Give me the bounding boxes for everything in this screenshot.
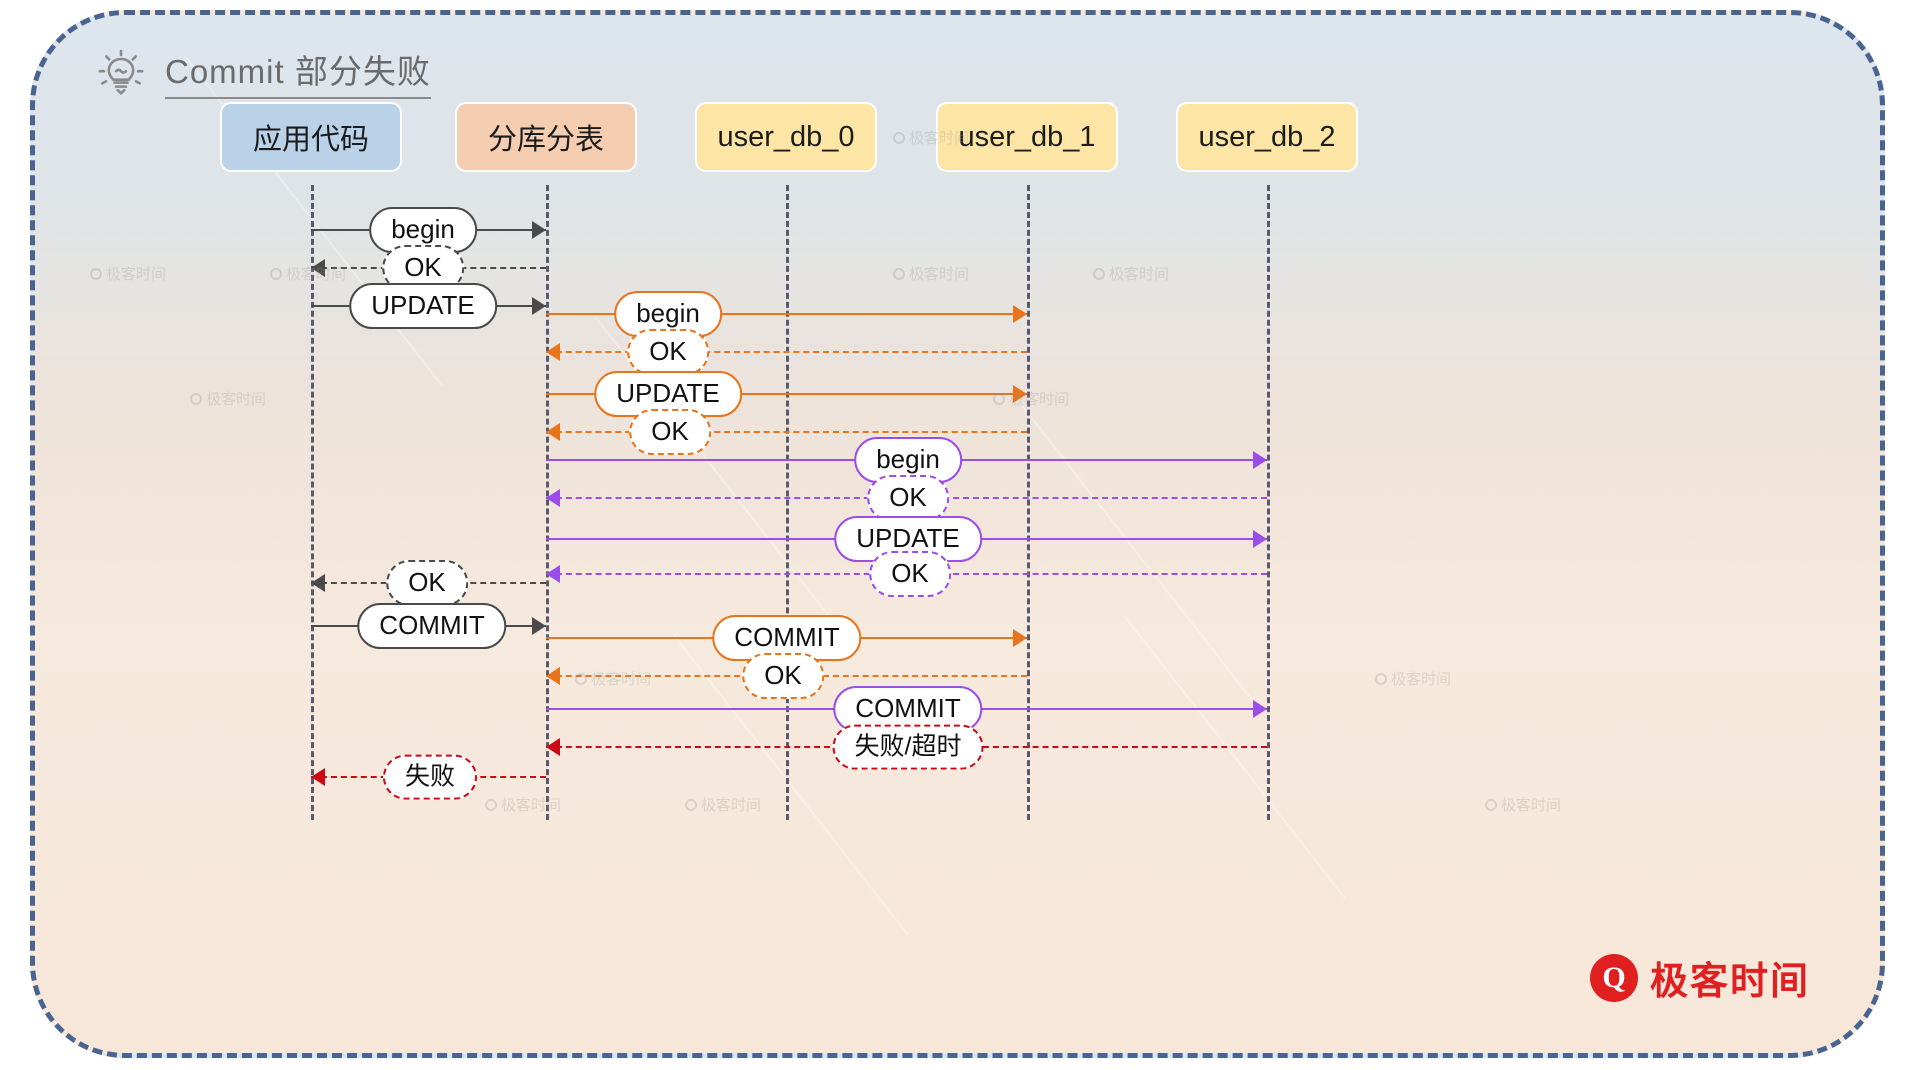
message-4-OK: OK xyxy=(35,351,1880,353)
watermark: 极客时间 xyxy=(485,794,561,815)
message-label: OK xyxy=(742,653,824,699)
watermark-dot-icon xyxy=(270,268,282,280)
message-17-: 失败 xyxy=(35,776,1880,778)
watermark: 极客时间 xyxy=(685,794,761,815)
message-13-COMMIT: COMMIT xyxy=(35,637,1880,639)
watermark-text: 极客时间 xyxy=(206,388,266,409)
message-9-UPDATE: UPDATE xyxy=(35,538,1880,540)
watermark-text: 极客时间 xyxy=(501,794,561,815)
participant-label: 应用代码 xyxy=(253,116,369,158)
message-arrowhead xyxy=(546,489,560,507)
message-arrowhead xyxy=(532,221,546,239)
message-arrowhead xyxy=(311,768,325,786)
decor-streak xyxy=(1123,615,1346,900)
message-label: 失败 xyxy=(383,755,477,800)
message-arrowhead xyxy=(546,738,560,756)
message-arrowhead xyxy=(546,565,560,583)
lifeline-app xyxy=(311,185,314,820)
message-label: 失败/超时 xyxy=(833,725,984,770)
watermark: 极客时间 xyxy=(1375,668,1451,689)
watermark-dot-icon xyxy=(893,268,905,280)
message-line xyxy=(546,351,1027,353)
watermark-text: 极客时间 xyxy=(1391,668,1451,689)
logo-mark-icon: Q xyxy=(1590,954,1638,1002)
message-label: OK xyxy=(629,409,711,455)
participant-label: 分库分表 xyxy=(488,116,604,158)
message-11-OK: OK xyxy=(35,582,1880,584)
participant-app[interactable]: 应用代码 xyxy=(220,102,402,172)
message-2-UPDATE: UPDATE xyxy=(35,305,1880,307)
message-label: OK xyxy=(867,475,949,521)
message-label: UPDATE xyxy=(349,283,497,329)
watermark-dot-icon xyxy=(90,268,102,280)
logo-text: 极客时间 xyxy=(1650,950,1810,1005)
message-arrowhead xyxy=(532,617,546,635)
message-label: OK xyxy=(869,551,951,597)
page-title: Commit 部分失败 xyxy=(165,45,431,99)
message-1-OK: OK xyxy=(35,267,1880,269)
message-arrowhead xyxy=(311,259,325,277)
message-arrowhead xyxy=(546,667,560,685)
logo-mark-letter: Q xyxy=(1602,963,1625,993)
message-arrowhead xyxy=(546,343,560,361)
watermark: 极客时间 xyxy=(190,388,266,409)
watermark-dot-icon xyxy=(1093,268,1105,280)
message-8-OK: OK xyxy=(35,497,1880,499)
message-arrowhead xyxy=(1013,629,1027,647)
message-0-begin: begin xyxy=(35,229,1880,231)
watermark: 极客时间 xyxy=(993,388,1069,409)
geekbang-logo: Q 极客时间 xyxy=(1590,950,1810,1005)
diagram-canvas: Commit 部分失败 应用代码分库分表user_db_0user_db_1us… xyxy=(0,0,1920,1070)
message-line xyxy=(546,431,1027,433)
lightbulb-icon xyxy=(95,46,147,98)
watermark-dot-icon xyxy=(485,799,497,811)
participant-db2[interactable]: user_db_2 xyxy=(1176,102,1358,172)
watermark-dot-icon xyxy=(685,799,697,811)
message-arrowhead xyxy=(311,574,325,592)
message-12-COMMIT: COMMIT xyxy=(35,625,1880,627)
message-7-begin: begin xyxy=(35,459,1880,461)
message-arrowhead xyxy=(1253,451,1267,469)
participant-shard[interactable]: 分库分表 xyxy=(455,102,637,172)
lifeline-db1 xyxy=(1027,185,1030,820)
watermark-dot-icon xyxy=(1485,799,1497,811)
participant-label: user_db_2 xyxy=(1198,121,1335,154)
participant-label: user_db_0 xyxy=(717,121,854,154)
message-16-: 失败/超时 xyxy=(35,746,1880,748)
participant-label: user_db_1 xyxy=(958,121,1095,154)
message-arrowhead xyxy=(1013,385,1027,403)
message-arrowhead xyxy=(1013,305,1027,323)
message-15-COMMIT: COMMIT xyxy=(35,708,1880,710)
participant-db0[interactable]: user_db_0 xyxy=(695,102,877,172)
watermark: 极客时间 xyxy=(575,668,651,689)
message-3-begin: begin xyxy=(35,313,1880,315)
message-label: COMMIT xyxy=(357,603,506,649)
watermark-text: 极客时间 xyxy=(1501,794,1561,815)
diagram-title-row: Commit 部分失败 xyxy=(95,45,431,99)
message-5-UPDATE: UPDATE xyxy=(35,393,1880,395)
message-label: OK xyxy=(627,329,709,375)
message-14-OK: OK xyxy=(35,675,1880,677)
message-6-OK: OK xyxy=(35,431,1880,433)
lifeline-db2 xyxy=(1267,185,1270,820)
watermark-text: 极客时间 xyxy=(701,794,761,815)
diagram-frame: Commit 部分失败 应用代码分库分表user_db_0user_db_1us… xyxy=(30,10,1885,1058)
watermark-text: 极客时间 xyxy=(591,668,651,689)
watermark: 极客时间 xyxy=(1485,794,1561,815)
lifeline-db0 xyxy=(786,185,789,820)
decor-streak xyxy=(1013,395,1261,711)
watermark-dot-icon xyxy=(893,132,905,144)
message-arrowhead xyxy=(1253,530,1267,548)
message-label: OK xyxy=(386,560,468,606)
message-arrowhead xyxy=(1253,700,1267,718)
participant-db1[interactable]: user_db_1 xyxy=(936,102,1118,172)
message-arrowhead xyxy=(546,423,560,441)
